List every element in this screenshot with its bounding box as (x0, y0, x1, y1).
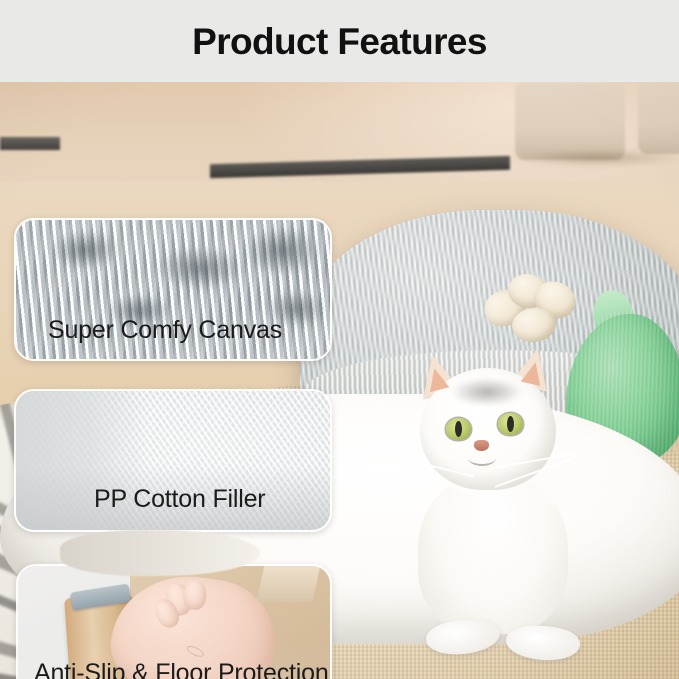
page-title: Product Features (192, 23, 487, 60)
cat-pupil-left (455, 421, 462, 437)
fur-shadow-tuft (156, 246, 242, 290)
product-features-page: Product Features (0, 0, 679, 679)
cat-forehead-marking (452, 378, 522, 406)
cat (300, 334, 679, 679)
feature-card-antislip: Anti-Slip & Floor Protection (16, 564, 332, 679)
cat-mouth (468, 450, 496, 466)
cat-tail (60, 530, 260, 576)
furniture-leg-left (515, 82, 625, 160)
finger (182, 579, 206, 610)
feature-label-antislip: Anti-Slip & Floor Protection (18, 661, 329, 679)
furniture-shadow (512, 150, 679, 166)
feature-card-filler: PP Cotton Filler (14, 389, 332, 532)
feature-label-filler: PP Cotton Filler (16, 487, 265, 530)
cat-pupil-right (507, 416, 514, 432)
fur-shadow-tuft (244, 226, 322, 276)
page-header: Product Features (0, 0, 679, 82)
fur-shadow-tuft (50, 230, 120, 270)
feature-card-fabric: Super Comfy Canvas (14, 218, 332, 361)
furniture-leg-right (638, 82, 679, 154)
cardboard-fold (257, 564, 322, 601)
baseboard-trim-left (0, 137, 60, 150)
cat-chest (418, 474, 568, 634)
product-lifestyle-photo: Super Comfy Canvas PP Cotton Filler (0, 82, 679, 679)
feature-label-fabric: Super Comfy Canvas (16, 318, 282, 359)
